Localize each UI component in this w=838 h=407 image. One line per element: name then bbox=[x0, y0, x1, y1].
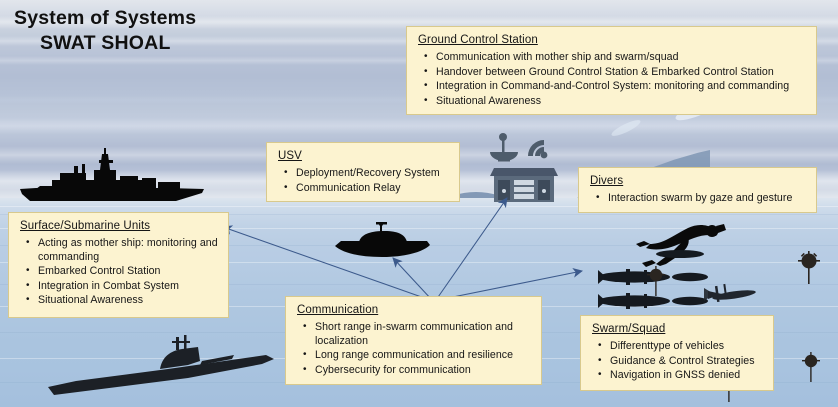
callout-heading: Communication bbox=[297, 304, 532, 316]
list-item: Cybersecurity for communication bbox=[315, 364, 532, 378]
list-item: Deployment/Recovery System bbox=[296, 167, 450, 181]
callout-list: Communication with mother ship and swarm… bbox=[418, 51, 807, 108]
naval-surface-ship-silhouette bbox=[16, 148, 212, 208]
list-item: Long range communication and resilience bbox=[315, 349, 532, 363]
callout-swarm-squad[interactable]: Swarm/Squad Differenttype of vehicles Gu… bbox=[580, 315, 774, 391]
uuv-glider-silhouette bbox=[700, 282, 760, 306]
wifi-signal-icon bbox=[528, 140, 547, 158]
usv-vessel-silhouette bbox=[333, 222, 433, 262]
callout-usv[interactable]: USV Deployment/Recovery System Communica… bbox=[266, 142, 460, 202]
callout-heading: USV bbox=[278, 150, 450, 162]
callout-heading: Ground Control Station bbox=[418, 34, 807, 46]
list-item: Integration in Command-and-Control Syste… bbox=[436, 80, 807, 94]
callout-list: Short range in-swarm communication and l… bbox=[297, 321, 532, 377]
list-item: Situational Awareness bbox=[436, 95, 807, 109]
list-item: Interaction swarm by gaze and gesture bbox=[608, 192, 807, 206]
callout-communication[interactable]: Communication Short range in-swarm commu… bbox=[285, 296, 542, 385]
callout-list: Acting as mother ship: monitoring and co… bbox=[20, 237, 219, 308]
list-item: Handover between Ground Control Station … bbox=[436, 66, 807, 80]
diagram-canvas: System of Systems SWAT SHOAL Ground Cont… bbox=[0, 0, 838, 407]
satellite-dish-icon bbox=[490, 133, 518, 162]
list-item: Short range in-swarm communication and l… bbox=[315, 321, 532, 348]
callout-list: Deployment/Recovery System Communication… bbox=[278, 167, 450, 195]
list-item: Acting as mother ship: monitoring and co… bbox=[38, 237, 219, 264]
sea-mine-silhouette bbox=[800, 352, 822, 382]
callout-list: Differenttype of vehicles Guidance & Con… bbox=[592, 340, 764, 383]
list-item: Situational Awareness bbox=[38, 294, 219, 308]
callout-heading: Swarm/Squad bbox=[592, 323, 764, 335]
callout-heading: Divers bbox=[590, 175, 807, 187]
sea-mine-silhouette bbox=[796, 250, 822, 284]
diver-silhouette bbox=[632, 222, 726, 268]
callout-divers[interactable]: Divers Interaction swarm by gaze and ges… bbox=[578, 167, 817, 213]
title-line-1: System of Systems bbox=[14, 7, 196, 29]
sea-mine-silhouette bbox=[645, 266, 667, 296]
callout-list: Interaction swarm by gaze and gesture bbox=[590, 192, 807, 206]
list-item: Embarked Control Station bbox=[38, 265, 219, 279]
list-item: Integration in Combat System bbox=[38, 280, 219, 294]
callout-ground-control-station[interactable]: Ground Control Station Communication wit… bbox=[406, 26, 817, 115]
submarine-silhouette bbox=[48, 333, 288, 401]
auv-torpedo-silhouette bbox=[655, 248, 705, 260]
ground-station-building-icon bbox=[478, 128, 570, 202]
list-item: Communication with mother ship and swarm… bbox=[436, 51, 807, 65]
list-item: Navigation in GNSS denied bbox=[610, 369, 764, 383]
callout-surface-submarine-units[interactable]: Surface/Submarine Units Acting as mother… bbox=[8, 212, 229, 318]
callout-heading: Surface/Submarine Units bbox=[20, 220, 219, 232]
list-item: Communication Relay bbox=[296, 182, 450, 196]
list-item: Guidance & Control Strategies bbox=[610, 355, 764, 369]
title-line-2: SWAT SHOAL bbox=[14, 31, 196, 56]
list-item: Differenttype of vehicles bbox=[610, 340, 764, 354]
page-title: System of Systems SWAT SHOAL bbox=[14, 6, 196, 56]
